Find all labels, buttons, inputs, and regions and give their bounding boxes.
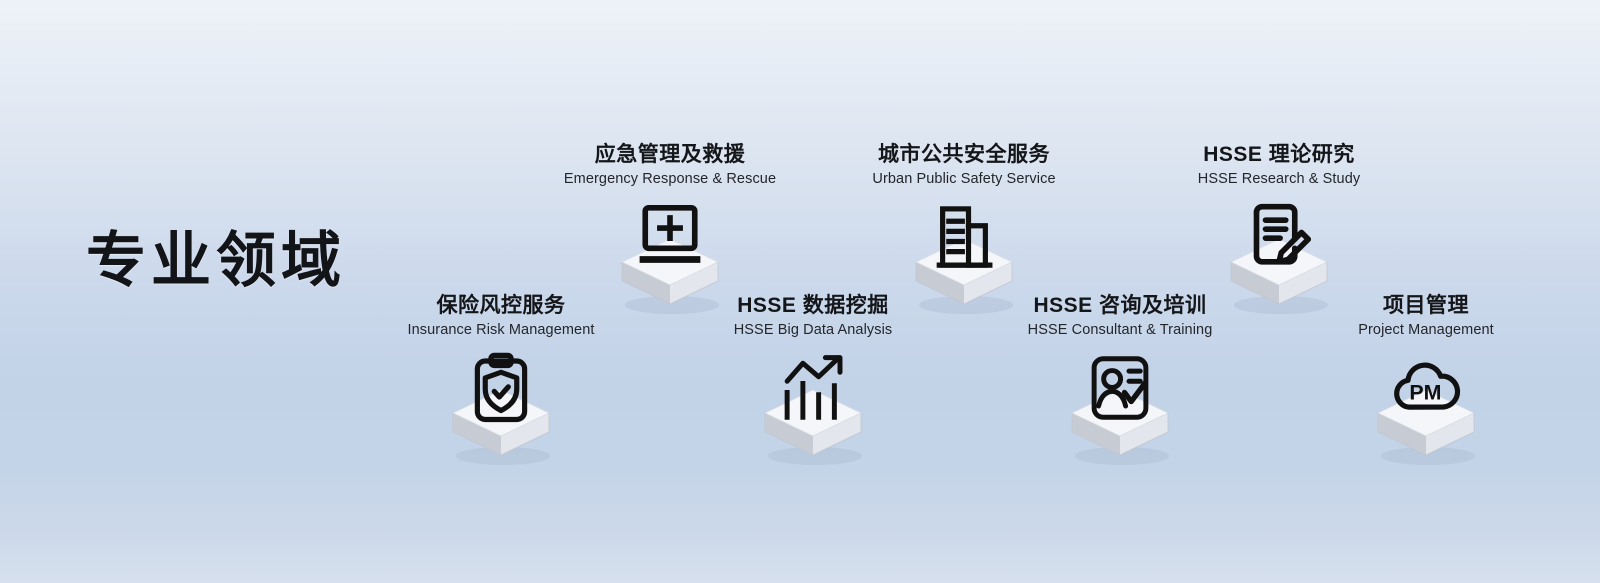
domain-item-pedestal: [990, 352, 1250, 472]
domain-item-title-en: HSSE Research & Study: [1149, 171, 1409, 188]
bar-chart-trend-icon: [777, 352, 849, 424]
domain-item-project-management[interactable]: 项目管理 Project Management PM: [1296, 294, 1556, 472]
domain-item-pedestal: [683, 352, 943, 472]
domain-item-title-en: Project Management: [1296, 322, 1556, 339]
domain-item-title-en: Emergency Response & Rescue: [540, 171, 800, 188]
domain-item-title-cn: 应急管理及救援: [540, 143, 800, 167]
domain-item-title-en: HSSE Consultant & Training: [990, 322, 1250, 339]
clipboard-shield-check-icon: [465, 352, 537, 424]
id-card-person-check-icon: [1084, 352, 1156, 424]
domain-item-title-cn: HSSE 数据挖掘: [683, 294, 943, 318]
monitor-plus-icon: [634, 201, 706, 273]
document-pencil-icon: [1243, 201, 1315, 273]
domain-item-title-en: Insurance Risk Management: [371, 322, 631, 339]
page-title: 专业领域: [86, 228, 346, 294]
domain-item-title-cn: HSSE 咨询及培训: [990, 294, 1250, 318]
cloud-pm-icon: PM: [1390, 352, 1462, 424]
domain-item-title-cn: HSSE 理论研究: [1149, 143, 1409, 167]
domain-item-pedestal: PM: [1296, 352, 1556, 472]
city-buildings-icon: [928, 201, 1000, 273]
svg-text:PM: PM: [1409, 380, 1441, 404]
domain-item-title-en: HSSE Big Data Analysis: [683, 322, 943, 339]
domain-item-hsse-big-data-analysis[interactable]: HSSE 数据挖掘 HSSE Big Data Analysis: [683, 294, 943, 472]
domain-item-insurance-risk-management[interactable]: 保险风控服务 Insurance Risk Management: [371, 294, 631, 472]
domain-item-hsse-consultant-training[interactable]: HSSE 咨询及培训 HSSE Consultant & Training: [990, 294, 1250, 472]
domain-item-title-en: Urban Public Safety Service: [834, 171, 1094, 188]
page-root: 专业领域 应急管理及救援 Emergency Response & Rescue…: [0, 0, 1600, 583]
domain-item-title-cn: 项目管理: [1296, 294, 1556, 318]
domain-item-pedestal: [371, 352, 631, 472]
domain-item-title-cn: 保险风控服务: [371, 294, 631, 318]
domain-item-title-cn: 城市公共安全服务: [834, 143, 1094, 167]
